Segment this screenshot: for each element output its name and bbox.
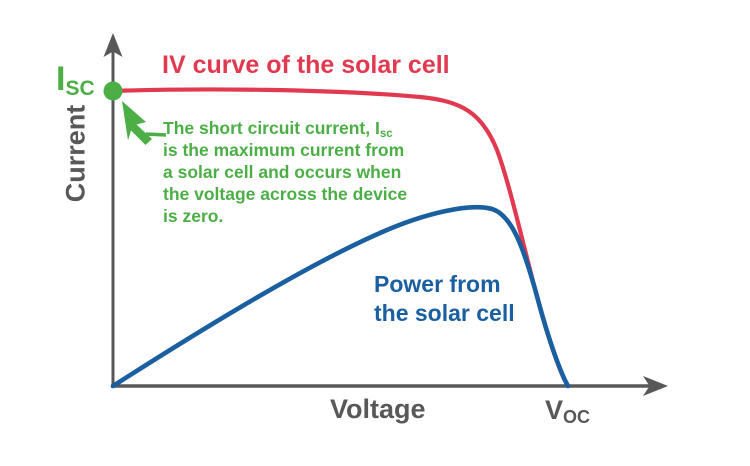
solar-cell-iv-curve-figure: ISC IV curve of the solar cell The short… <box>0 0 750 466</box>
annotation-line-4: the voltage across the device <box>163 184 407 204</box>
voc-label-main: V <box>545 395 563 425</box>
power-label-line-2: the solar cell <box>374 300 515 326</box>
annotation-line-5: is zero. <box>163 206 223 226</box>
annotation-line-1: The short circuit current, I <box>163 118 380 138</box>
iv-curve-label: IV curve of the solar cell <box>162 53 450 78</box>
y-axis-title: Current <box>63 74 90 234</box>
voc-label-subscript: OC <box>563 407 590 427</box>
annotation-arrow-icon <box>122 101 166 145</box>
annotation-line-1-subscript: sc <box>380 128 393 140</box>
annotation-line-3: a solar cell and occurs when <box>163 162 401 182</box>
power-label-line-1: Power from <box>374 271 501 297</box>
voc-axis-label: VOC <box>545 397 590 424</box>
isc-annotation-text: The short circuit current, Isc is the ma… <box>163 117 463 227</box>
x-axis-title: Voltage <box>330 396 426 423</box>
annotation-line-2: is the maximum current from <box>163 140 404 160</box>
isc-marker-dot <box>104 82 123 101</box>
power-curve-label: Power from the solar cell <box>374 270 515 327</box>
